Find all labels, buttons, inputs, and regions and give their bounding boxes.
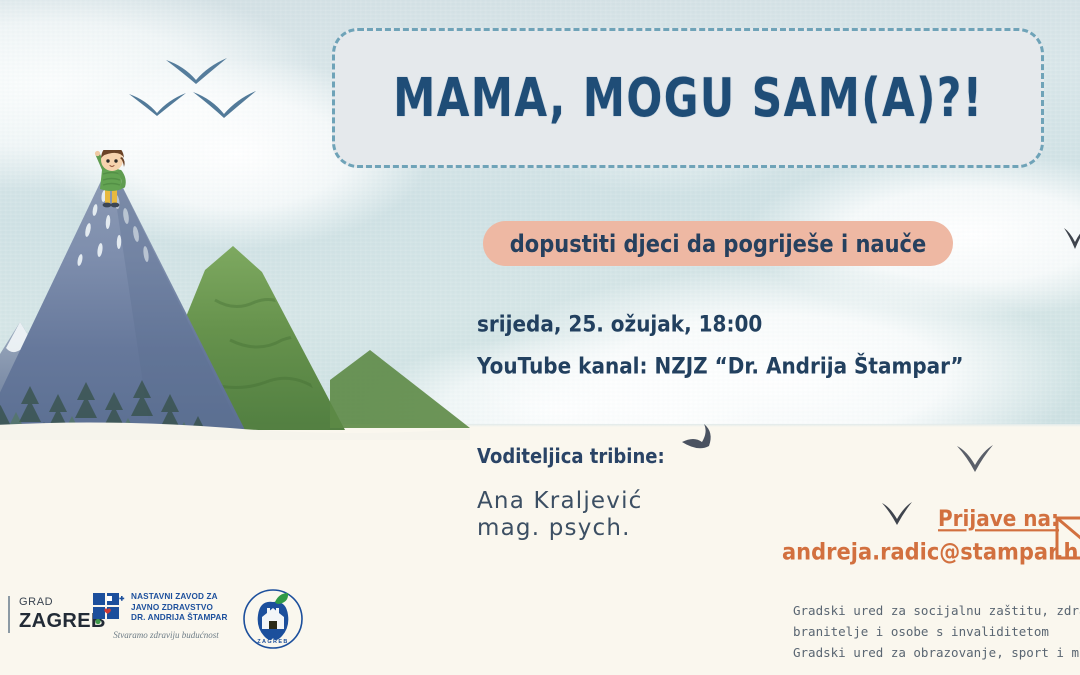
event-channel: YouTube kanal: NZJZ “Dr. Andrija Štampar…: [477, 352, 964, 379]
organiser-line-3: Gradski ured za obrazovanje, sport i mla…: [793, 642, 1080, 663]
organiser-text: Gradski ured za socijalnu zaštitu, zdrav…: [793, 600, 1080, 663]
nzjz-line-1: NASTAVNI ZAVOD ZA: [131, 592, 228, 603]
title-banner: MAMA, MOGU SAM(A)?!: [332, 28, 1044, 168]
nzjz-tagline: Stvaramo zdraviju budućnost: [92, 630, 240, 640]
apply-label: Prijave na:: [938, 505, 1059, 531]
moderator-title: mag. psych.: [477, 515, 665, 542]
bird-icon-right-3: [1062, 225, 1080, 255]
nzjz-line-2: JAVNO ZDRAVSTVO: [131, 603, 228, 614]
nzjz-line-3: DR. ANDRIJA ŠTAMPAR: [131, 613, 228, 624]
subtitle-text: dopustiti djeci da pogriješe i nauče: [510, 230, 926, 257]
organiser-line-2: branitelje i osobe s invaliditetom: [793, 621, 1080, 642]
event-meta: srijeda, 25. ožujak, 18:00 YouTube kanal…: [477, 310, 964, 394]
organiser-line-1: Gradski ured za socijalnu zaštitu, zdrav…: [793, 600, 1080, 621]
moderator-block: Voditeljica tribine: Ana Kraljević mag. …: [477, 445, 665, 542]
moderator-name: Ana Kraljević: [477, 488, 665, 515]
nzjz-mark-icon: [92, 592, 126, 626]
bird-icon-left-3: [190, 87, 260, 125]
page-title: MAMA, MOGU SAM(A)?!: [393, 67, 983, 129]
envelope-icon: [1055, 516, 1080, 564]
logo-nzjz: NASTAVNI ZAVOD ZA JAVNO ZDRAVSTVO DR. AN…: [92, 592, 240, 640]
event-date: srijeda, 25. ožujak, 18:00: [477, 310, 964, 337]
moderator-label: Voditeljica tribine:: [477, 445, 665, 469]
apply-email[interactable]: andreja.radic@stampar.hr: [782, 538, 1080, 565]
bird-icon-center: [678, 424, 726, 468]
subtitle-banner: dopustiti djeci da pogriješe i nauče: [483, 221, 953, 266]
bird-icon-right-1: [955, 443, 995, 479]
bird-icon-right-2: [880, 500, 914, 532]
logo-zagreb-apple: ZAGREB: [242, 588, 304, 654]
apple-caption: ZAGREB: [257, 639, 289, 645]
poster-canvas: MAMA, MOGU SAM(A)?! dopustiti djeci da p…: [0, 0, 1080, 675]
mountain-illustration: [0, 150, 470, 440]
bird-icon-left-2: [163, 55, 231, 91]
bird-icon-left-1: [126, 90, 190, 124]
